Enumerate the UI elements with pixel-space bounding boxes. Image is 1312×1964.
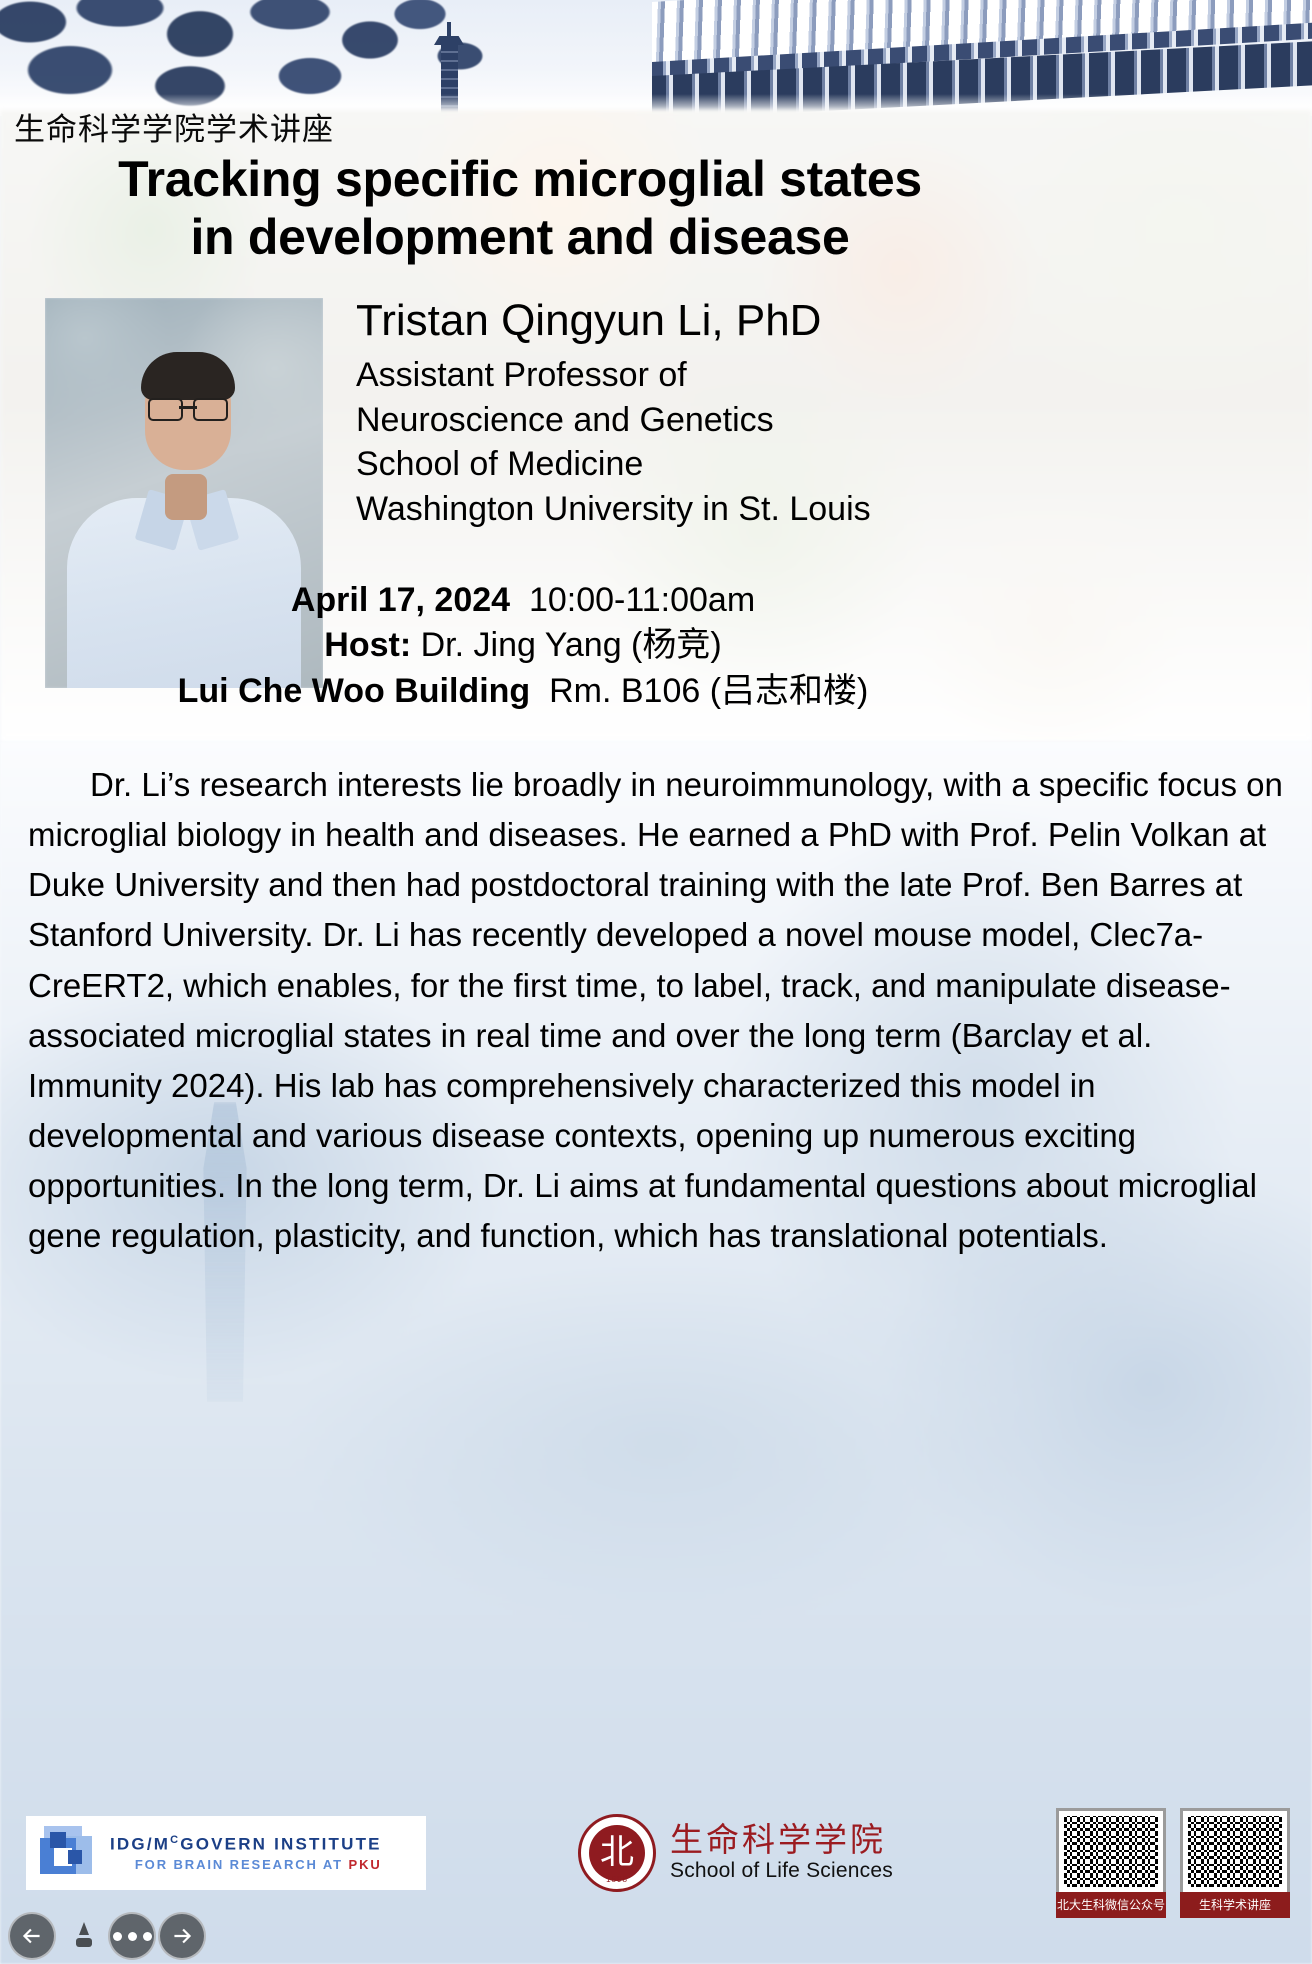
idg-subtitle-accent: PKU: [349, 1857, 382, 1872]
bottom-navigation-bar: [0, 1908, 1312, 1964]
idg-subtitle-text: FOR BRAIN RESEARCH AT: [135, 1857, 343, 1872]
speaker-info: Tristan Qingyun Li, PhD Assistant Profes…: [356, 298, 1046, 532]
series-label: 生命科学学院学术讲座: [14, 104, 334, 149]
idg-title-a: IDG/M: [110, 1834, 170, 1853]
seminar-poster: 生命科学学院学术讲座 Tracking specific microglial …: [0, 0, 1312, 1964]
idg-subtitle: FOR BRAIN RESEARCH AT PKU: [110, 1857, 382, 1872]
abstract-section: Dr. Li’s research interests lie broadly …: [0, 742, 1312, 1964]
qr-card-wechat[interactable]: 北大生科微信公众号: [1056, 1808, 1166, 1918]
qr-code-group: 北大生科微信公众号 生科学术讲座: [1056, 1808, 1290, 1918]
venue-name: Lui Che Woo Building: [178, 672, 531, 710]
title-line-1: Tracking specific microglial states: [0, 150, 1040, 208]
pku-sls-logo: 北 1898 生命科学学院 School of Life Sciences: [578, 1814, 893, 1892]
idg-title: IDG/MCGOVERN INSTITUTE: [110, 1834, 382, 1855]
host-name: Dr. Jing Yang (杨竞): [421, 626, 722, 664]
footer-logos: IDG/MCGOVERN INSTITUTE FOR BRAIN RESEARC…: [0, 1808, 1312, 1908]
more-menu-icon[interactable]: [108, 1912, 156, 1960]
qr-code-icon[interactable]: [1180, 1808, 1290, 1892]
title-line-2: in development and disease: [0, 208, 1040, 266]
speaker-name: Tristan Qingyun Li, PhD: [356, 298, 1046, 345]
home-icon[interactable]: [62, 1914, 106, 1958]
venue-room: Rm. B106 (吕志和楼): [549, 672, 868, 710]
idg-title-sup: C: [170, 1834, 180, 1846]
idg-mcgovern-logo: IDG/MCGOVERN INSTITUTE FOR BRAIN RESEARC…: [26, 1816, 426, 1890]
host-label: Host:: [324, 626, 411, 664]
event-datetime: April 17, 2024 10:00-11:00am: [0, 580, 1046, 621]
qr-code-icon[interactable]: [1056, 1808, 1166, 1892]
abstract-paragraph: Dr. Li’s research interests lie broadly …: [28, 760, 1284, 1262]
event-details: April 17, 2024 10:00-11:00am Host: Dr. J…: [0, 580, 1046, 712]
affiliation-line-3: School of Medicine: [356, 442, 1046, 487]
back-arrow-icon[interactable]: [8, 1912, 56, 1960]
affiliation-line-2: Neuroscience and Genetics: [356, 398, 1046, 443]
header-banner: [0, 0, 1312, 116]
event-date: April 17, 2024: [291, 581, 510, 619]
seal-year: 1898: [581, 1875, 653, 1884]
idg-title-b: GOVERN INSTITUTE: [180, 1834, 381, 1853]
event-host: Host: Dr. Jing Yang (杨竞): [0, 625, 1046, 666]
pku-name-en: School of Life Sciences: [670, 1859, 893, 1883]
page-title: Tracking specific microglial states in d…: [0, 150, 1040, 266]
qr-card-seminar[interactable]: 生科学术讲座: [1180, 1808, 1290, 1918]
idg-squares-icon: [38, 1824, 96, 1882]
speaker-affiliation: Assistant Professor of Neuroscience and …: [356, 353, 1046, 533]
affiliation-line-1: Assistant Professor of: [356, 353, 1046, 398]
pku-name-cn: 生命科学学院: [670, 1823, 893, 1858]
peking-university-seal-icon: 北 1898: [578, 1814, 656, 1892]
affiliation-line-4: Washington University in St. Louis: [356, 487, 1046, 532]
event-time: 10:00-11:00am: [529, 581, 755, 619]
event-location: Lui Che Woo Building Rm. B106 (吕志和楼): [0, 671, 1046, 712]
abstract-body: Dr. Li’s research interests lie broadly …: [28, 760, 1284, 1262]
forward-arrow-icon[interactable]: [158, 1912, 206, 1960]
